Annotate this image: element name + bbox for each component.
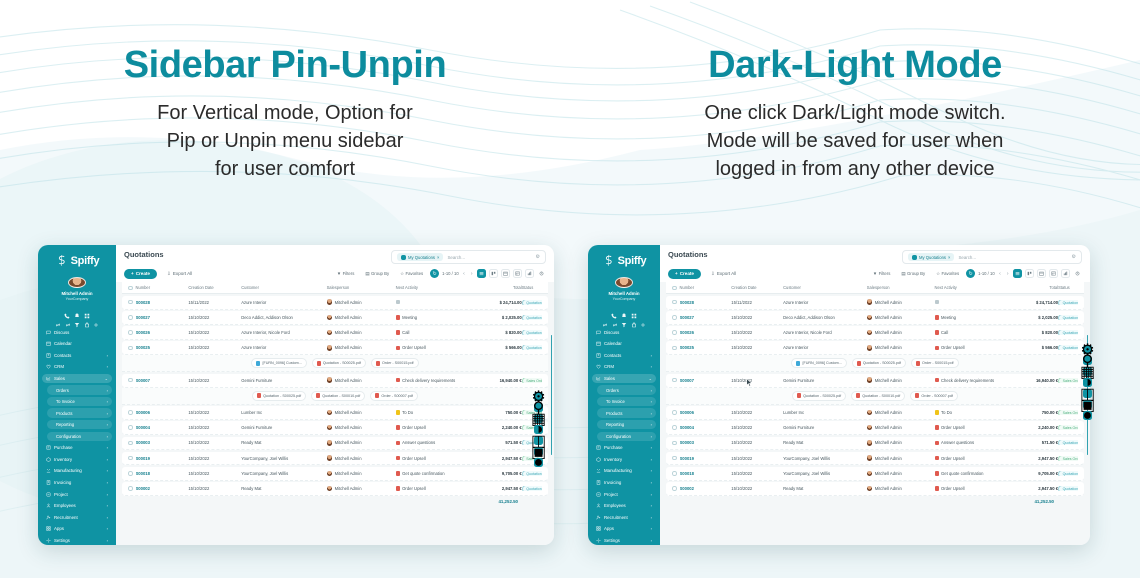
cell-total: $ 24,714.00	[485, 300, 522, 305]
pager-next-button[interactable]: ›	[469, 271, 474, 277]
pin-panel-icon[interactable]: ●	[1083, 411, 1092, 420]
filter-icon[interactable]	[621, 315, 627, 321]
row-select-checkbox[interactable]	[672, 330, 677, 335]
column-header[interactable]: Total	[1022, 285, 1058, 290]
group-by-button[interactable]: ▤Group By	[361, 269, 393, 279]
table-row[interactable]: S0001815/10/2022YourCompany, Joel Willis…	[122, 467, 548, 481]
pin-panel-icon[interactable]: ●	[534, 458, 543, 467]
search-settings-icon[interactable]: ⚙	[1072, 254, 1076, 260]
table-row[interactable]: S0002515/10/2022Azure InteriorMitchell A…	[122, 341, 548, 355]
cell-number[interactable]: S00026	[136, 330, 189, 335]
sidebar-item-to-invoice[interactable]: To Invoice›	[47, 397, 112, 406]
cell-number[interactable]: S00004	[136, 425, 189, 430]
row-select-checkbox[interactable]	[128, 346, 133, 351]
cell-number[interactable]: S00007	[136, 378, 189, 383]
cell-total: 2,947.50 €	[1022, 486, 1058, 491]
sidebar-item-products[interactable]: Products›	[47, 408, 112, 417]
sidebar-item-label: Settings	[54, 538, 104, 543]
attachment-name: Quotation - S00025.pdf	[263, 394, 301, 398]
table-row[interactable]: S0000215/10/2022Ready MatMitchell AdminO…	[666, 482, 1084, 496]
attachment-chip[interactable]: Quotation - S00010.pdf	[311, 391, 365, 401]
todo-icon	[396, 410, 401, 415]
clock-icon	[935, 300, 940, 305]
cell-customer: Gemini Furniture	[783, 378, 867, 383]
table-row[interactable]: S0002815/11/2022Azure InteriorMitchell A…	[122, 296, 548, 310]
list-view-icon[interactable]	[1013, 269, 1022, 278]
calendar-view-icon[interactable]	[1037, 269, 1046, 278]
grid-icon[interactable]	[84, 306, 90, 312]
row-select-checkbox[interactable]	[128, 441, 133, 446]
column-header[interactable]: Creation Date	[188, 285, 241, 290]
chevron-right-icon[interactable]: ›	[107, 538, 108, 543]
page-subtitle-left: For Vertical mode, Option for Pip or Unp…	[0, 99, 570, 184]
avatar	[327, 330, 333, 336]
cell-number[interactable]: S00018	[136, 471, 189, 476]
chevron-right-icon[interactable]: ›	[107, 388, 108, 393]
column-header[interactable]: Salesperson	[867, 285, 935, 290]
cell-total: $ 820.00	[485, 330, 522, 335]
cell-total: 9,705.00 €	[485, 471, 522, 476]
cell-number[interactable]: S00003	[136, 440, 189, 445]
view-toolbar[interactable]: ▼Filters ▤Group By ☆Favorites ↻ 1-10 / 1…	[869, 269, 1082, 279]
sidebar-left[interactable]: Spiffy Mitchell Admin YourCompany Discus…	[38, 245, 116, 545]
cell-number[interactable]: S00002	[680, 486, 732, 491]
sidebar-item-label: Project	[604, 492, 648, 497]
chevron-right-icon[interactable]: ›	[107, 422, 108, 427]
cell-number[interactable]: S00027	[136, 315, 189, 320]
column-header[interactable]: Next Activity	[935, 285, 1023, 290]
sidebar-item-apps[interactable]: Apps›	[42, 524, 112, 533]
chevron-right-icon[interactable]: ›	[651, 480, 652, 485]
chevron-down-icon[interactable]: ⌄	[105, 376, 108, 381]
sidebar-item-employees[interactable]: Employees›	[592, 501, 656, 510]
sidebar-item-sales[interactable]: Sales⌄	[42, 374, 112, 383]
crm-icon	[46, 364, 51, 369]
calendar-view-icon[interactable]	[501, 269, 510, 278]
sidebar-item-manufacturing[interactable]: Manufacturing›	[42, 466, 112, 475]
activity-label: Order Upsell	[402, 345, 426, 350]
activity-view-icon[interactable]	[1073, 269, 1082, 278]
cell-number[interactable]: S00018	[680, 471, 732, 476]
sidebar-item-settings[interactable]: Settings›	[42, 536, 112, 545]
brand-logo[interactable]: Spiffy	[38, 245, 116, 273]
upsell-icon	[396, 456, 401, 461]
cell-salesperson: Mitchell Admin	[327, 410, 396, 416]
chevron-right-icon[interactable]: ›	[107, 503, 108, 508]
activity-label: Order Upsell	[402, 456, 426, 461]
chevron-right-icon[interactable]: ›	[107, 445, 108, 450]
floating-action-panel-right[interactable]: ⚙ ⚲ ▦ ◑ ◫ ▣ ●	[1083, 345, 1140, 420]
brand-logo[interactable]: Spiffy	[588, 245, 660, 273]
cell-salesperson: Mitchell Admin	[327, 486, 396, 492]
sidebar-item-settings[interactable]: Settings›	[592, 536, 656, 545]
grand-total-row: 41,252.50	[122, 496, 548, 507]
column-header[interactable]: Next Activity	[396, 285, 485, 290]
attachment-chip[interactable]: Order - S00015.pdf	[371, 358, 419, 368]
phone-icon[interactable]	[64, 306, 70, 312]
chevron-right-icon[interactable]: ›	[651, 526, 652, 531]
quick-icons-row-1[interactable]	[38, 306, 116, 312]
attachment-chip[interactable]: Quotation - S00025.pdf	[252, 391, 306, 401]
status-badge: Quotation	[522, 486, 542, 491]
cell-number[interactable]: S00019	[136, 456, 189, 461]
chevron-right-icon[interactable]: ›	[107, 434, 108, 439]
cell-number[interactable]: S00027	[680, 315, 732, 320]
row-select-checkbox[interactable]	[128, 486, 133, 491]
status-badge: Quotation	[522, 330, 542, 335]
row-select-checkbox[interactable]	[128, 330, 133, 335]
activity-label: Check delivery requirements	[941, 378, 994, 383]
cell-customer: Deco Addict, Addison Olson	[241, 315, 326, 320]
sidebar-item-contacts[interactable]: Contacts›	[42, 351, 112, 360]
select-all-checkbox[interactable]	[128, 286, 133, 291]
favorites-button[interactable]: ☆Favorites	[932, 269, 963, 279]
sidebar-item-orders[interactable]: Orders›	[47, 385, 112, 394]
attachment-chip[interactable]: Order - S00015.pdf	[911, 358, 959, 368]
column-header[interactable]: Number	[136, 285, 189, 290]
bag-icon[interactable]	[84, 315, 90, 321]
employees-icon	[46, 503, 51, 508]
chevron-right-icon[interactable]: ›	[651, 364, 652, 369]
sidebar-item-discuss[interactable]: Discuss	[42, 328, 112, 337]
activity-label: Meeting	[402, 315, 417, 320]
cell-salesperson: Mitchell Admin	[327, 345, 396, 351]
column-header[interactable]: Total	[485, 285, 522, 290]
link-icon[interactable]	[55, 315, 61, 321]
column-header[interactable]: Creation Date	[731, 285, 783, 290]
pivot-view-icon[interactable]	[1049, 269, 1058, 278]
view-toolbar[interactable]: ▼Filters ▤Group By ☆Favorites ↻ 1-10 / 1…	[333, 269, 546, 279]
sidebar-item-label: Discuss	[54, 330, 108, 335]
kanban-view-icon[interactable]	[1025, 269, 1034, 278]
table-row[interactable]: S0000615/10/2022Lumber IncMitchell Admin…	[122, 406, 548, 420]
invoicing-icon	[46, 480, 51, 485]
row-select-checkbox[interactable]	[672, 315, 677, 320]
column-header[interactable]: Customer	[783, 285, 867, 290]
attachment-chip[interactable]: Order - S00007.pdf	[370, 391, 418, 401]
export-all-button[interactable]: ⇩ Export All	[162, 268, 197, 279]
salesperson-name: Mitchell Admin	[335, 300, 362, 305]
avatar[interactable]	[68, 277, 86, 288]
quick-icons-row-2[interactable]	[38, 315, 116, 321]
search-settings-icon[interactable]: ⚙	[536, 254, 540, 260]
table-row[interactable]: S0000215/10/2022Ready MatMitchell AdminO…	[122, 482, 548, 496]
avatar[interactable]	[615, 277, 633, 288]
crm-icon	[596, 364, 601, 369]
sidebar-item-crm[interactable]: CRM›	[592, 362, 656, 371]
cell-creation-date: 15/10/2022	[731, 345, 783, 350]
avatar	[327, 299, 333, 305]
column-header[interactable]: Salesperson	[327, 285, 396, 290]
status-badge: Quotation	[1058, 345, 1078, 350]
sidebar-item-recruitment[interactable]: Recruitment›	[592, 513, 656, 522]
table-row[interactable]: S0000715/10/2022Gemini FurnitureMitchell…	[666, 374, 1084, 388]
attachment-chip[interactable]: Quotation - S00025.pdf	[312, 358, 366, 368]
pager-prev-button[interactable]: ‹	[998, 271, 1003, 277]
table-row[interactable]: S0000715/10/2022Gemini FurnitureMitchell…	[122, 374, 548, 388]
upsell-icon	[396, 346, 401, 351]
cell-number[interactable]: S00002	[136, 486, 189, 491]
sidebar-item-recruitment[interactable]: Recruitment›	[42, 513, 112, 522]
cell-number[interactable]: S00025	[680, 345, 732, 350]
user-role: YourCompany	[38, 297, 116, 301]
cell-number[interactable]: S00007	[680, 378, 732, 383]
row-select-checkbox[interactable]	[128, 425, 133, 430]
calendar-red-icon	[396, 378, 401, 383]
table-row[interactable]: S0002615/10/2022Azure Interior, Nicole F…	[666, 326, 1084, 340]
sidebar-item-sales[interactable]: Sales⌄	[592, 374, 656, 383]
contacts-icon	[596, 353, 601, 358]
attachment-chip[interactable]: [FURN_0096] Custom...	[791, 358, 846, 368]
pager-prev-button[interactable]: ‹	[462, 271, 467, 277]
cell-total: $ 566.00	[1022, 345, 1058, 350]
sidebar-item-inventory[interactable]: Inventory›	[42, 455, 112, 464]
sidebar-menu[interactable]: DiscussCalendarContacts›CRM›Sales⌄Orders…	[38, 328, 116, 546]
create-label: Create	[680, 271, 694, 276]
group-by-button[interactable]: ▤Group By	[897, 269, 929, 279]
filter-icon[interactable]	[74, 315, 80, 321]
search-input[interactable]: Search...	[447, 255, 465, 260]
quotations-table-left[interactable]: NumberCreation DateCustomerSalespersonNe…	[116, 282, 554, 545]
content-toolbar-left[interactable]: + Create ⇩ Export All ▼Filters ▤Group By…	[124, 268, 546, 279]
chevron-right-icon[interactable]: ›	[107, 492, 108, 497]
sidebar-item-label: Apps	[604, 526, 648, 531]
star-icon: ☆	[936, 271, 940, 277]
sidebar-item-label: Employees	[54, 503, 104, 508]
sidebar-item-calendar[interactable]: Calendar	[592, 339, 656, 348]
plus-icon[interactable]	[93, 315, 99, 321]
facet-close-icon[interactable]: ×	[437, 255, 439, 260]
user-role: YourCompany	[588, 297, 660, 301]
sidebar-item-project[interactable]: Project›	[42, 489, 112, 498]
sidebar-item-invoicing[interactable]: Invoicing›	[42, 478, 112, 487]
cell-number[interactable]: S00025	[136, 345, 189, 350]
column-header[interactable]: Status	[522, 285, 542, 290]
chevron-right-icon[interactable]: ›	[651, 468, 652, 473]
favorites-button[interactable]: ☆Favorites	[396, 269, 427, 279]
chevron-right-icon[interactable]: ›	[651, 492, 652, 497]
row-select-checkbox[interactable]	[128, 410, 133, 415]
grid-icon[interactable]	[631, 306, 637, 312]
refresh-icon[interactable]: ↻	[966, 269, 975, 278]
row-select-checkbox[interactable]	[128, 471, 133, 476]
status-badge: Quotation	[522, 315, 542, 320]
sidebar-item-apps[interactable]: Apps›	[592, 524, 656, 533]
row-select-checkbox[interactable]	[672, 346, 677, 351]
brand-name: Spiffy	[618, 255, 647, 267]
row-select-checkbox[interactable]	[672, 486, 677, 491]
chevron-right-icon[interactable]: ›	[107, 353, 108, 358]
column-header[interactable]: Customer	[241, 285, 326, 290]
quick-icons-row-2[interactable]	[588, 315, 660, 321]
export-all-button[interactable]: ⇩ Export All	[706, 268, 741, 279]
sidebar-item-label: Invoicing	[604, 480, 648, 485]
phone-icon[interactable]	[611, 306, 617, 312]
column-header[interactable]: Status	[1058, 285, 1078, 290]
chevron-right-icon[interactable]: ›	[107, 399, 108, 404]
funnel-icon	[401, 255, 406, 260]
chevron-right-icon[interactable]: ›	[107, 468, 108, 473]
activity-view-icon[interactable]	[537, 269, 546, 278]
headings-row: Sidebar Pin-Unpin For Vertical mode, Opt…	[0, 0, 1140, 230]
table-row[interactable]: S0002715/10/2022Deco Addict, Addison Ols…	[666, 311, 1084, 325]
row-select-checkbox[interactable]	[672, 471, 677, 476]
table-row[interactable]: S0002715/10/2022Deco Addict, Addison Ols…	[122, 311, 548, 325]
link-alt-icon[interactable]	[65, 315, 71, 321]
cell-number[interactable]: S00028	[136, 300, 189, 305]
activity-label: Get quote confirmation	[941, 471, 983, 476]
sidebar-item-purchase[interactable]: Purchase›	[42, 443, 112, 452]
link-alt-icon[interactable]	[612, 315, 618, 321]
activity-label: Order Upsell	[941, 345, 965, 350]
row-select-checkbox[interactable]	[672, 300, 677, 305]
search-bar[interactable]: My Quotations × Search... ⚙	[902, 250, 1082, 264]
sidebar-item-label: Orders	[56, 388, 104, 393]
cell-number[interactable]: S00006	[136, 410, 189, 415]
attachment-chip[interactable]: Quotation - S00025.pdf	[852, 358, 906, 368]
chevron-down-icon[interactable]: ⌄	[649, 376, 652, 381]
plus-icon[interactable]	[640, 315, 646, 321]
refresh-icon[interactable]: ↻	[430, 269, 439, 278]
sidebar-item-reporting[interactable]: Reporting›	[47, 420, 112, 429]
table-row[interactable]: S0000415/10/2022Gemini FurnitureMitchell…	[122, 421, 548, 435]
sidebar-item-project[interactable]: Project›	[592, 489, 656, 498]
sidebar-item-invoicing[interactable]: Invoicing›	[592, 478, 656, 487]
apps-icon	[596, 526, 601, 531]
chevron-right-icon[interactable]: ›	[107, 457, 108, 462]
select-all-checkbox[interactable]	[672, 286, 677, 291]
sidebar-item-crm[interactable]: CRM›	[42, 362, 112, 371]
avatar	[327, 315, 333, 321]
row-select-checkbox[interactable]	[672, 378, 677, 383]
content-header-right: Quotations My Quotations × Search... ⚙ +	[660, 245, 1090, 282]
table-row[interactable]: S0002515/10/2022Azure InteriorMitchell A…	[666, 341, 1084, 355]
attachment-row: Quotation - S00025.pdfQuotation - S00010…	[122, 388, 548, 405]
sidebar-item-label: Reporting	[56, 422, 104, 427]
sidebar-item-label: Configuration	[56, 434, 104, 439]
salesperson-name: Mitchell Admin	[335, 330, 362, 335]
search-facet-my-quotations[interactable]: My Quotations ×	[397, 253, 443, 261]
chevron-right-icon[interactable]: ›	[651, 353, 652, 358]
app-window-left[interactable]: Spiffy Mitchell Admin YourCompany Discus…	[38, 245, 554, 545]
floating-action-panel-left[interactable]: ⚙ ⚲ ▦ ◑ ◫ ▣ ●	[534, 392, 1140, 467]
cell-salesperson: Mitchell Admin	[867, 345, 935, 351]
pdf-file-icon	[316, 393, 320, 398]
table-row[interactable]: S0001815/10/2022YourCompany, Joel Willis…	[666, 467, 1084, 481]
chevron-right-icon[interactable]: ›	[651, 538, 652, 543]
table-row[interactable]: S0002815/11/2022Azure InteriorMitchell A…	[666, 296, 1084, 310]
table-header: NumberCreation DateCustomerSalespersonNe…	[122, 282, 548, 294]
sidebar-item-manufacturing[interactable]: Manufacturing›	[592, 466, 656, 475]
cell-total: $ 2,025.00	[1022, 315, 1058, 320]
sidebar-item-employees[interactable]: Employees›	[42, 501, 112, 510]
graph-view-icon[interactable]	[525, 269, 534, 278]
cell-total: 750.00 €	[485, 410, 522, 415]
sidebar-item-configuration[interactable]: Configuration›	[47, 432, 112, 441]
cell-creation-date: 15/10/2022	[188, 440, 241, 445]
pager-label: 1-10 / 10	[978, 271, 995, 276]
pager-next-button[interactable]: ›	[1005, 271, 1010, 277]
table-row[interactable]: S0000315/10/2022Ready MatMitchell AdminA…	[122, 437, 548, 451]
chevron-right-icon[interactable]: ›	[107, 526, 108, 531]
cell-creation-date: 15/10/2022	[188, 410, 241, 415]
row-select-checkbox[interactable]	[128, 456, 133, 461]
sidebar-item-label: Sales	[54, 376, 102, 381]
cell-next-activity: Order Upsell	[396, 486, 485, 491]
create-button[interactable]: + Create	[124, 269, 157, 279]
cell-creation-date: 15/11/2022	[731, 300, 783, 305]
sidebar-item-label: Invoicing	[54, 480, 104, 485]
cell-next-activity: Meeting	[935, 315, 1023, 320]
filters-button[interactable]: ▼Filters	[333, 269, 358, 278]
salesperson-name: Mitchell Admin	[335, 378, 362, 383]
search-bar[interactable]: My Quotations × Search... ⚙	[391, 250, 546, 264]
cell-number[interactable]: S00026	[680, 330, 732, 335]
filters-button[interactable]: ▼Filters	[869, 269, 894, 278]
cell-creation-date: 15/10/2022	[731, 330, 783, 335]
sidebar-item-contacts[interactable]: Contacts›	[592, 351, 656, 360]
sidebar-item-label: Recruitment	[604, 515, 648, 520]
table-row[interactable]: S0002615/10/2022Azure Interior, Nicole F…	[122, 326, 548, 340]
kanban-view-icon[interactable]	[489, 269, 498, 278]
cell-status: Quotation	[522, 330, 542, 335]
project-icon	[46, 492, 51, 497]
chevron-right-icon[interactable]: ›	[651, 503, 652, 508]
cell-total: $ 820.00	[1022, 330, 1058, 335]
attachment-chip[interactable]: [FURN_0096] Custom...	[251, 358, 306, 368]
cell-customer: Azure Interior	[783, 345, 867, 350]
cell-total: $ 24,714.00	[1022, 300, 1058, 305]
cell-total: 16,940.00 €	[1022, 378, 1058, 383]
create-button[interactable]: + Create	[668, 269, 701, 279]
quick-icons-row-1[interactable]	[588, 306, 660, 312]
avatar	[867, 299, 873, 305]
chevron-right-icon[interactable]: ›	[651, 515, 652, 520]
attachment-name: Order - S00015.pdf	[922, 361, 954, 365]
page-title-left: Sidebar Pin-Unpin	[0, 44, 570, 87]
chevron-right-icon[interactable]: ›	[107, 480, 108, 485]
chevron-right-icon[interactable]: ›	[107, 515, 108, 520]
pdf-file-icon	[257, 393, 261, 398]
activity-label: Check delivery requirements	[402, 378, 455, 383]
bag-icon[interactable]	[631, 315, 637, 321]
graph-view-icon[interactable]	[1061, 269, 1070, 278]
table-row[interactable]: S0001915/10/2022YourCompany, Joel Willis…	[122, 452, 548, 466]
chevron-right-icon[interactable]: ›	[107, 364, 108, 369]
salesperson-name: Mitchell Admin	[335, 315, 362, 320]
content-toolbar-right[interactable]: + Create ⇩ Export All ▼Filters ▤Group By…	[668, 268, 1082, 279]
search-facet-my-quotations[interactable]: My Quotations ×	[908, 253, 954, 261]
bell-icon[interactable]	[621, 306, 627, 312]
sidebar-item-calendar[interactable]: Calendar	[42, 339, 112, 348]
link-icon[interactable]	[602, 315, 608, 321]
row-select-checkbox[interactable]	[128, 378, 133, 383]
facet-close-icon[interactable]: ×	[948, 255, 950, 260]
sidebar-item-discuss[interactable]: Discuss	[592, 328, 656, 337]
cell-number[interactable]: S00028	[680, 300, 732, 305]
row-select-checkbox[interactable]	[128, 300, 133, 305]
spiffy-logo-icon	[55, 254, 68, 267]
chevron-right-icon[interactable]: ›	[107, 411, 108, 416]
pivot-view-icon[interactable]	[513, 269, 522, 278]
list-view-icon[interactable]	[477, 269, 486, 278]
cell-status: Quotation	[1058, 345, 1078, 350]
row-select-checkbox[interactable]	[128, 315, 133, 320]
column-header[interactable]: Number	[680, 285, 732, 290]
avatar	[867, 471, 873, 477]
search-input[interactable]: Search...	[958, 255, 976, 260]
bell-icon[interactable]	[74, 306, 80, 312]
